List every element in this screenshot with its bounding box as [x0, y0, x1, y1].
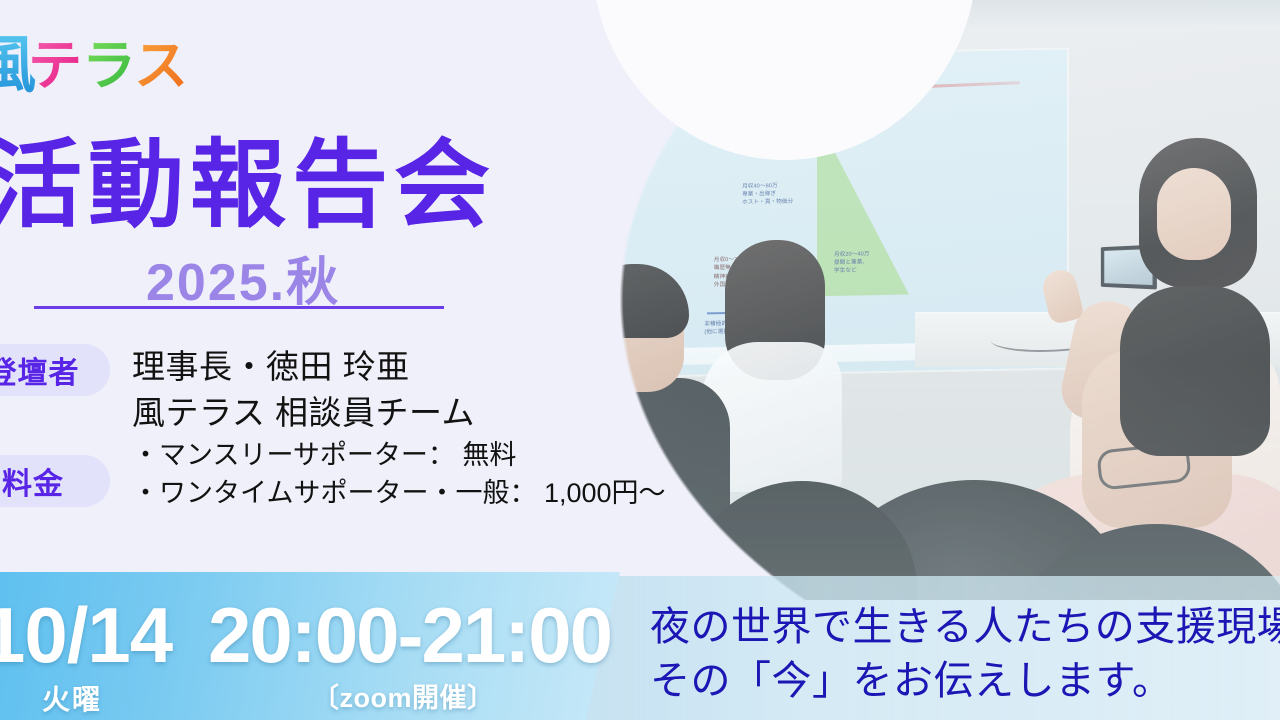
event-tagline: 夜の世界で生きる人たちの支援現場 その「今」をお伝えします。 [650, 600, 1280, 709]
tagline-line-1: 夜の世界で生きる人たちの支援現場 [650, 600, 1280, 654]
speaker-line-2: 風テラス 相談員チーム [132, 390, 475, 436]
poster-title: 活動報告会 [0, 138, 496, 234]
svg-text:ラ: ラ [82, 34, 136, 97]
event-time: 20:00-21:00 [208, 596, 611, 674]
poster-subtitle: 2025.秋 [146, 240, 340, 315]
fee-text: ・マンスリーサポーター： 無料 ・ワンタイムサポーター・一般： 1,000円〜 [132, 437, 666, 513]
info-row-fee: 料金 ・マンスリーサポーター： 無料 ・ワンタイムサポーター・一般： 1,000… [0, 437, 666, 513]
svg-text:ス: ス [134, 34, 188, 97]
event-poster: 月収100万超インフルエンサーメディア露出 月収40〜80万専業・出稼ぎホスト・… [0, 0, 1280, 720]
poster-left-column: 風 テ ラ ス 活動報告会 2025.秋 登壇者 理事長・徳田 玲亜 風テラス … [0, 0, 620, 600]
fee-line-2: ・ワンタイムサポーター・一般： 1,000円〜 [132, 475, 666, 513]
event-date: 10/14 [0, 596, 172, 674]
title-divider [34, 306, 444, 309]
svg-text:テ: テ [28, 34, 82, 97]
label-speaker: 登壇者 [0, 344, 110, 396]
speaker-line-1: 理事長・徳田 玲亜 [132, 344, 475, 390]
tagline-line-2: その「今」をお伝えします。 [650, 654, 1280, 708]
event-venue: 〔zoom開催〕 [312, 676, 495, 715]
speaker-text: 理事長・徳田 玲亜 風テラス 相談員チーム [132, 344, 475, 435]
fee-line-1: ・マンスリーサポーター： 無料 [132, 437, 666, 475]
event-weekday: 火曜 [42, 678, 102, 718]
label-fee: 料金 [0, 455, 110, 507]
kaze-terrace-logo: 風 テ ラ ス [0, 24, 232, 110]
info-row-speaker: 登壇者 理事長・徳田 玲亜 風テラス 相談員チーム [0, 344, 475, 435]
